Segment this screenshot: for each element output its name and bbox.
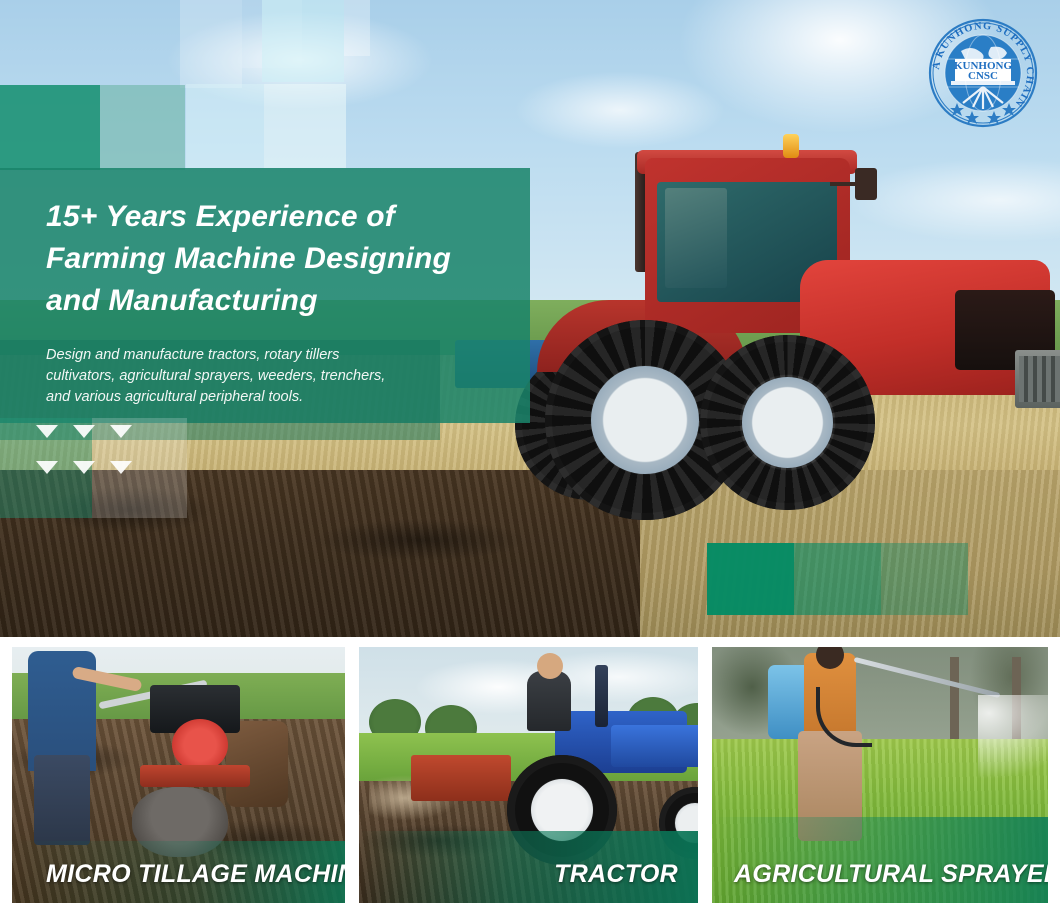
red-tractor-image [525,140,1045,540]
green-accent-block-1 [0,85,100,170]
product-card-micro-tillage-machine[interactable]: MICRO TILLAGE MACHINE [12,647,345,903]
card-caption-overlay: AGRICULTURAL SPRAYER [712,833,1048,903]
product-card-row: MICRO TILLAGE MACHINE TRACTOR [0,647,1060,903]
product-card-tractor[interactable]: TRACTOR [359,647,698,903]
green-square-3 [881,543,968,615]
card-caption-overlay: MICRO TILLAGE MACHINE [12,833,345,903]
mosaic-square [180,0,242,88]
card-caption-overlay: TRACTOR [359,833,698,903]
headline-line-1: 15+ Years Experience of [46,196,526,238]
mosaic-square [262,0,344,82]
mosaic-square [264,84,346,168]
arrow-grid [36,425,146,505]
card-caption-label: MICRO TILLAGE MACHINE [46,860,345,889]
tractor-mirror [855,168,877,200]
green-square-2 [794,543,881,615]
tractor-front-weight [1015,350,1060,408]
product-card-agricultural-sprayer[interactable]: AGRICULTURAL SPRAYER [712,647,1048,903]
hero-subcopy: Design and manufacture tractors, rotary … [46,345,466,408]
chevron-down-icon [36,425,58,438]
green-square-1 [707,543,794,615]
subcopy-line-2: cultivators, agricultural sprayers, weed… [46,366,466,387]
subcopy-line-1: Design and manufacture tractors, rotary … [46,345,466,366]
chevron-down-icon [73,461,95,474]
chevron-down-icon [110,461,132,474]
subcopy-line-3: and various agricultural peripheral tool… [46,387,466,408]
tractor-beacon-light [783,134,799,158]
headline-line-3: and Manufacturing [46,280,526,322]
chevron-down-icon [110,425,132,438]
mosaic-square [344,0,370,56]
headline-line-2: Farming Machine Designing [46,238,526,280]
card-caption-label: TRACTOR [554,860,678,889]
card-caption-label: AGRICULTURAL SPRAYER [734,860,1048,889]
chevron-down-icon [36,461,58,474]
company-logo: KUNHONG CNSC CHINA KUNHONG SUPPLY CHAIN [927,17,1039,129]
tractor-side-window [665,188,727,288]
chevron-down-icon [73,425,95,438]
hero-banner: 15+ Years Experience of Farming Machine … [0,0,1060,637]
green-accent-block-2 [100,85,185,170]
tractor-wheel-front [700,335,875,510]
mosaic-square [186,84,264,168]
svg-text:CNSC: CNSC [968,70,998,82]
hero-headline: 15+ Years Experience of Farming Machine … [46,196,526,322]
